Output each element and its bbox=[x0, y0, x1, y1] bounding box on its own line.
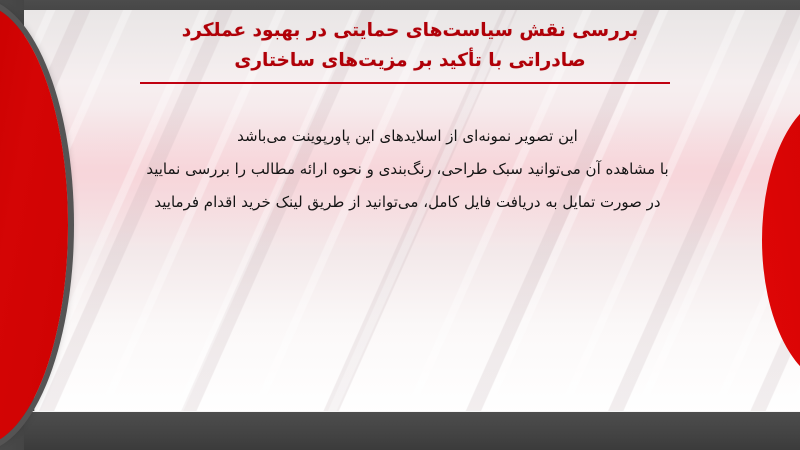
slide-body: این تصویر نمونه‌ای از اسلایدهای این پاور… bbox=[70, 120, 745, 219]
slide-title-line-2: صادراتی با تأکید بر مزیت‌های ساختاری bbox=[60, 46, 760, 76]
slide-bottom-band bbox=[0, 412, 800, 450]
slide-title-underline bbox=[140, 82, 670, 84]
slide-title-line-1: بررسی نقش سیاست‌های حمایتی در بهبود عملک… bbox=[60, 16, 760, 46]
presentation-slide: بررسی نقش سیاست‌های حمایتی در بهبود عملک… bbox=[0, 0, 800, 450]
slide-body-line-2: با مشاهده آن می‌توانید سبک طراحی، رنگ‌بن… bbox=[70, 153, 745, 186]
slide-body-line-3: در صورت تمایل به دریافت فایل کامل، می‌تو… bbox=[70, 186, 745, 219]
slide-title: بررسی نقش سیاست‌های حمایتی در بهبود عملک… bbox=[60, 16, 760, 76]
frame-top-strip bbox=[0, 0, 800, 10]
slide-body-line-1: این تصویر نمونه‌ای از اسلایدهای این پاور… bbox=[70, 120, 745, 153]
